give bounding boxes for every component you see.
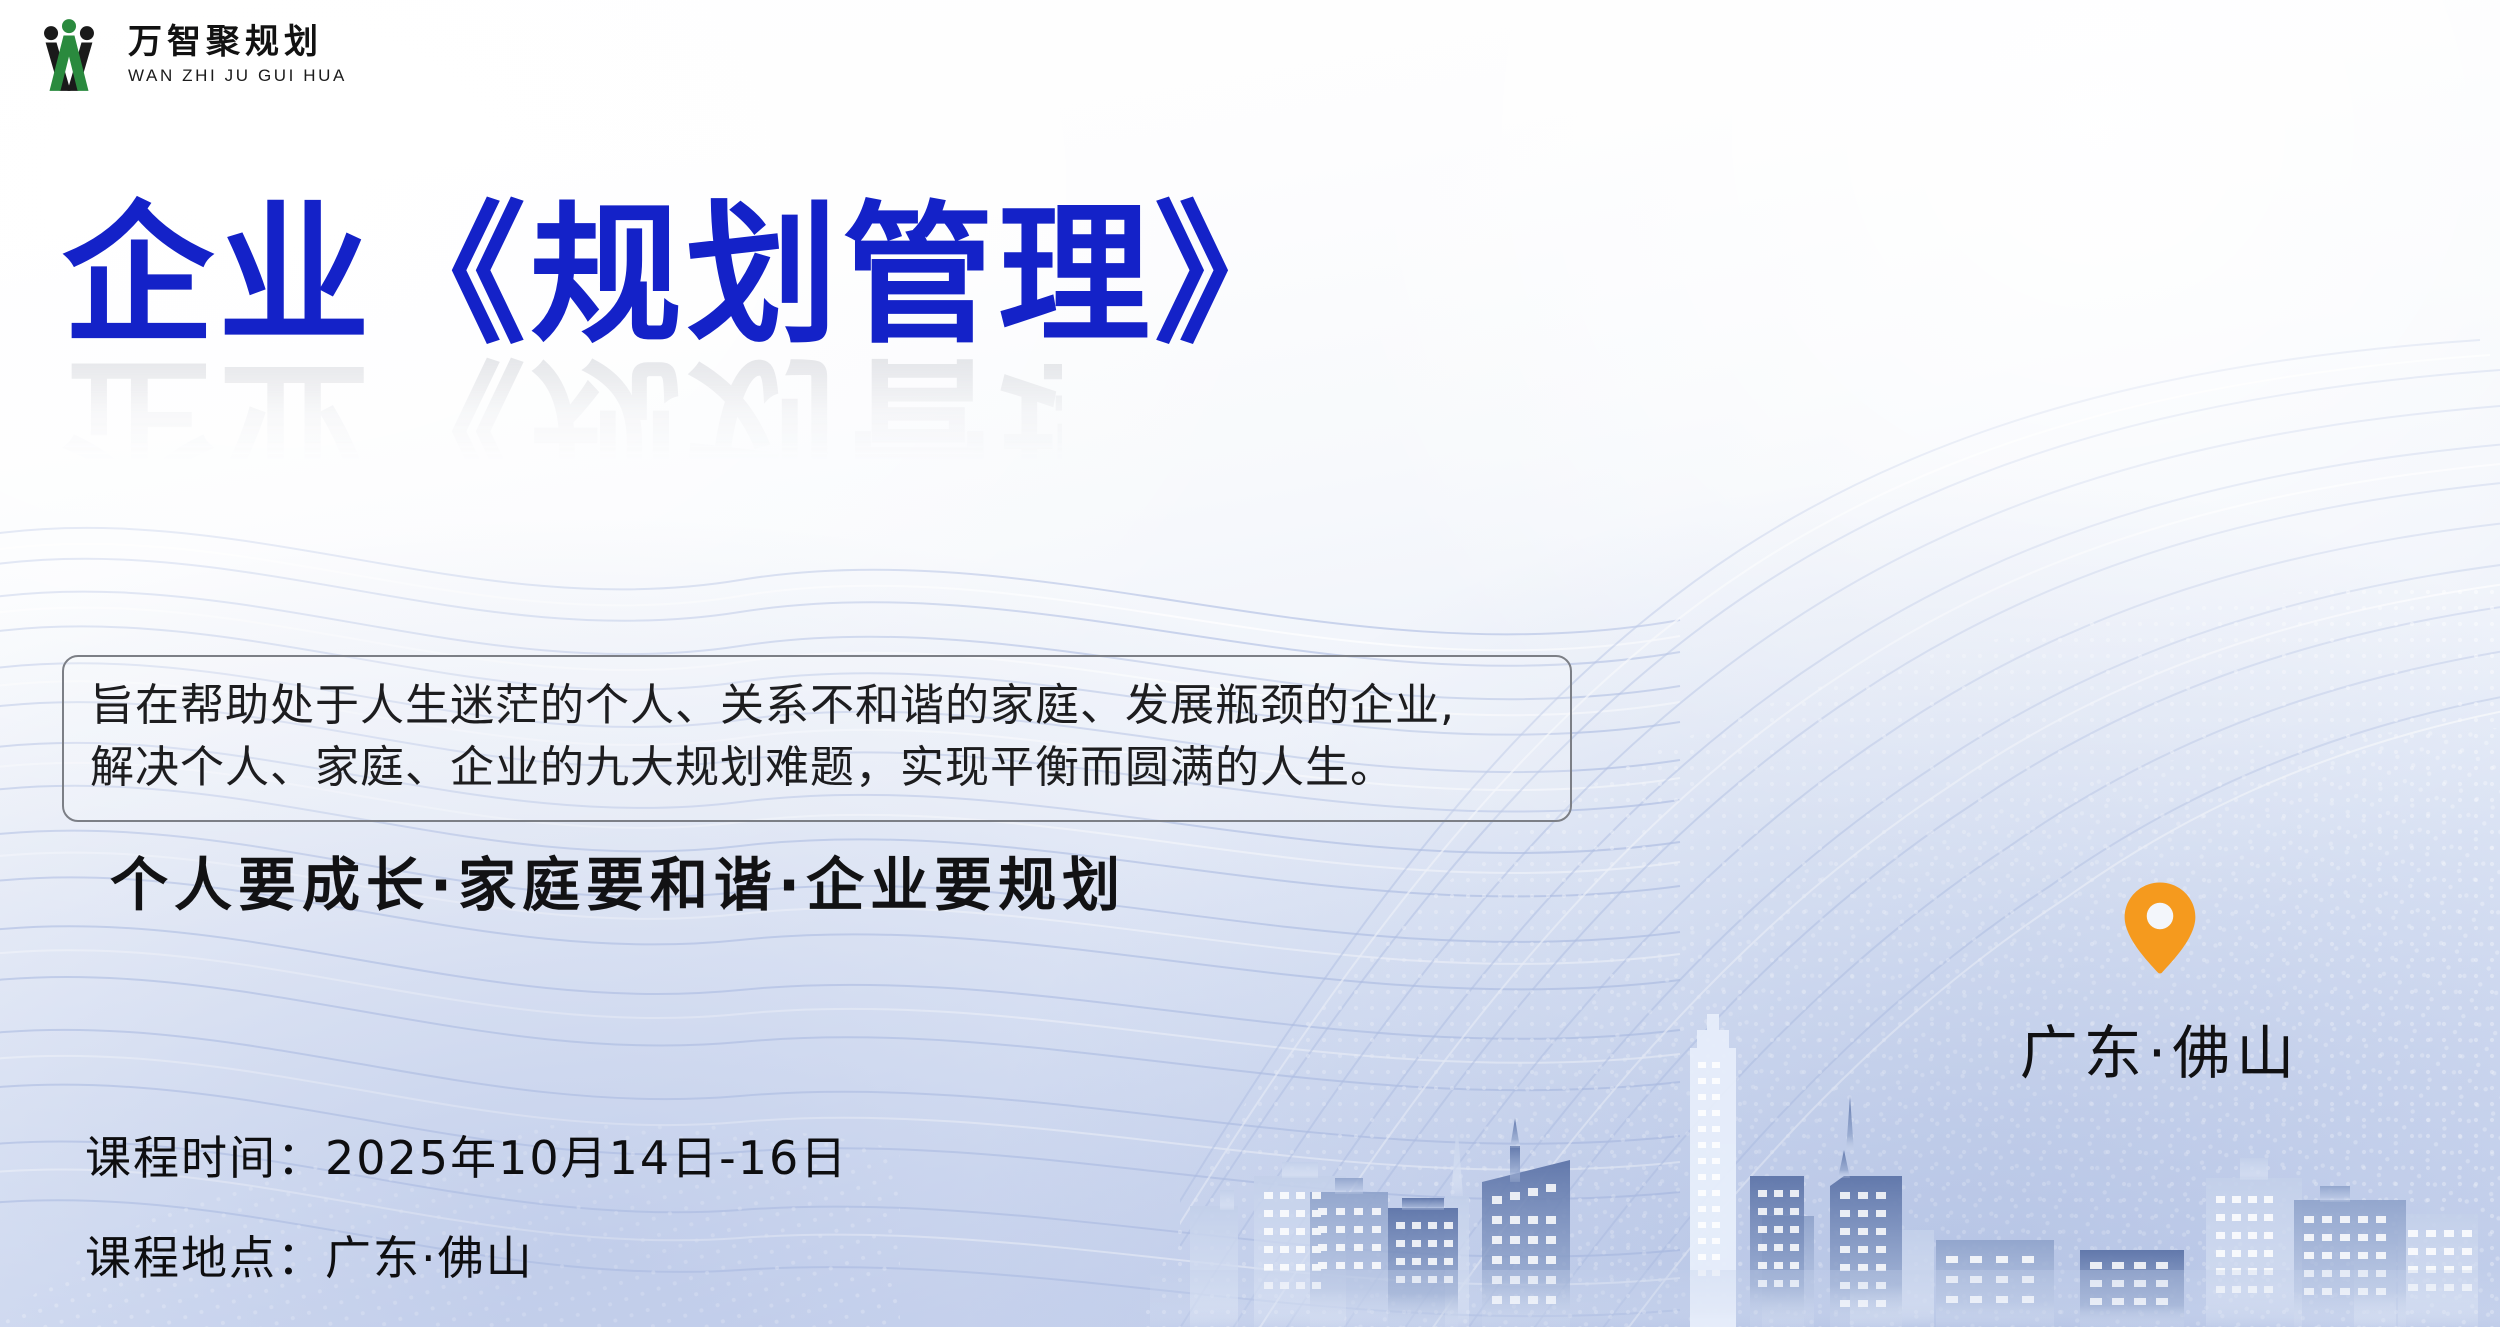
brand-name-pinyin: WAN ZHI JU GUI HUA [128,66,347,86]
page-title-reflection: 企业《规划管理》 [62,346,1062,506]
location-block: 广东·佛山 [1960,880,2360,1090]
description-line-1: 旨在帮助处于人生迷茫的个人、关系不和谐的家庭、发展瓶颈的企业, [90,675,1546,737]
course-info-block: 课程时间：2025年10月14日-16日 课程地点：广东·佛山 [85,1122,848,1288]
location-text: 广东·佛山 [2020,1006,2300,1090]
map-pin-icon [2119,880,2201,976]
three-people-m-logo-icon [30,16,108,94]
description-box: 旨在帮助处于人生迷茫的个人、关系不和谐的家庭、发展瓶颈的企业, 解决个人、家庭、… [62,655,1572,822]
course-place: 课程地点：广东·佛山 [85,1222,848,1288]
brand-logo-text: 万智聚规划 WAN ZHI JU GUI HUA [128,24,347,86]
description-line-2: 解决个人、家庭、企业的九大规划难题，实现平衡而圆满的人生。 [90,737,1546,799]
brand-logo[interactable]: 万智聚规划 WAN ZHI JU GUI HUA [30,16,347,94]
brand-name-cn: 万智聚规划 [128,24,347,61]
background-glow-topright [1200,0,2500,995]
promotional-banner: 万智聚规划 WAN ZHI JU GUI HUA 企业《规划管理》 企业《规划管… [0,0,2500,1327]
course-time: 课程时间：2025年10月14日-16日 [85,1122,848,1188]
title-block: 企业《规划管理》 企业《规划管理》 [62,196,1062,556]
tagline: 个人要成长·家庭要和谐·企业要规划 [110,838,1126,922]
page-title: 企业《规划管理》 [62,196,1062,356]
